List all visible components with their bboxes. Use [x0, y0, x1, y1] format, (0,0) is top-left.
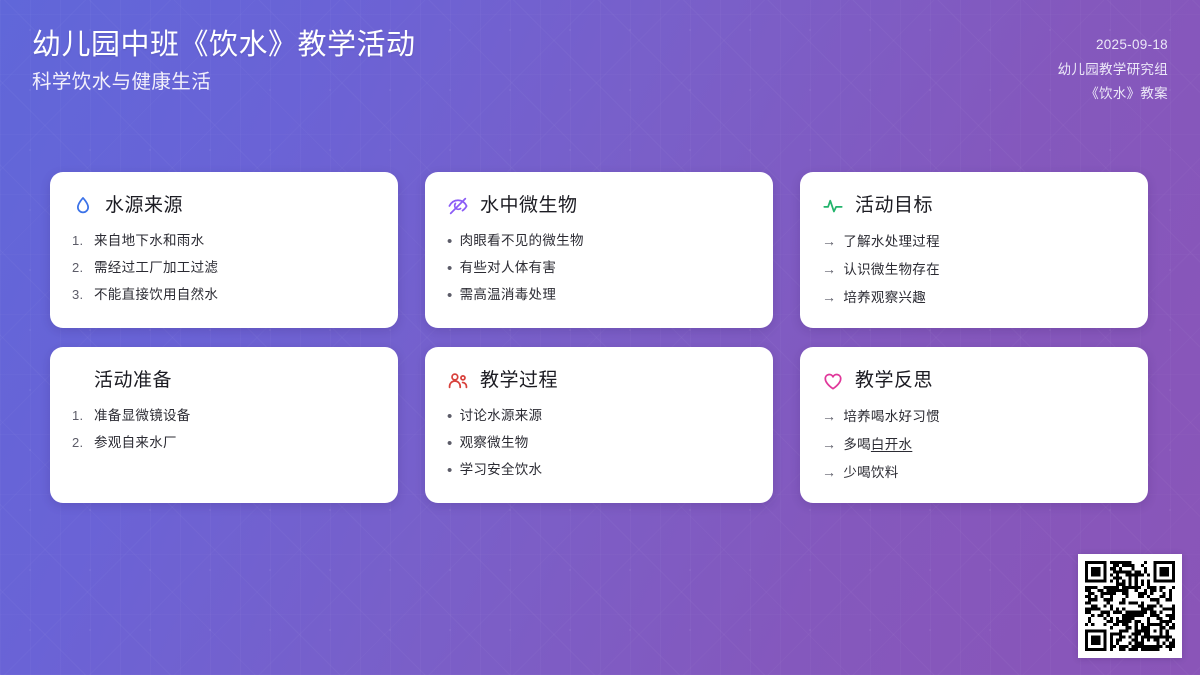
list-item: →了解水处理过程	[822, 232, 1126, 251]
list-item-text: 观察微生物	[460, 434, 529, 452]
list-item: 3.不能直接饮用自然水	[72, 286, 376, 304]
list-marker: →	[822, 407, 836, 426]
card-title: 教学过程	[480, 371, 558, 390]
list-item: →少喝饮料	[822, 463, 1126, 482]
list-marker: →	[822, 435, 836, 454]
header-document-name: 《饮水》教案	[1085, 84, 1168, 104]
card-activity-goals[interactable]: 活动目标→了解水处理过程→认识微生物存在→培养观察兴趣	[800, 172, 1148, 328]
list-item-text: 不能直接饮用自然水	[94, 286, 218, 304]
list-item: •学习安全饮水	[447, 461, 751, 479]
card-list: •肉眼看不见的微生物•有些对人体有害•需高温消毒处理	[447, 232, 751, 305]
list-marker: 1.	[72, 407, 87, 425]
header-left: 幼儿园中班《饮水》教学活动 科学饮水与健康生活	[32, 30, 416, 94]
card-header: 教学反思	[822, 367, 1126, 394]
list-marker: →	[822, 463, 836, 482]
list-marker: 2.	[72, 259, 87, 277]
card-microorganisms[interactable]: 水中微生物•肉眼看不见的微生物•有些对人体有害•需高温消毒处理	[425, 172, 773, 328]
list-marker: •	[447, 261, 453, 276]
heart-icon	[822, 370, 844, 392]
list-item: 1.准备显微镜设备	[72, 407, 376, 425]
card-title: 教学反思	[855, 371, 933, 390]
list-item: 2.需经过工厂加工过滤	[72, 259, 376, 277]
list-marker: •	[447, 409, 453, 424]
card-water-source[interactable]: 水源来源1.来自地下水和雨水2.需经过工厂加工过滤3.不能直接饮用自然水	[50, 172, 398, 328]
list-item: →培养观察兴趣	[822, 288, 1126, 307]
list-item-text: 学习安全饮水	[460, 461, 543, 479]
list-item: 2.参观自来水厂	[72, 434, 376, 452]
list-item-text: 有些对人体有害	[460, 259, 557, 277]
card-list: →了解水处理过程→认识微生物存在→培养观察兴趣	[822, 232, 1126, 308]
list-marker: →	[822, 232, 836, 251]
list-marker: •	[447, 288, 453, 303]
list-item: •有些对人体有害	[447, 259, 751, 277]
card-title: 水中微生物	[480, 196, 578, 215]
card-list: →培养喝水好习惯→多喝白开水→少喝饮料	[822, 407, 1126, 483]
activity-pulse-icon	[822, 195, 844, 217]
card-header: 教学过程	[447, 367, 751, 394]
card-title: 活动目标	[855, 196, 933, 215]
card-header: 水中微生物	[447, 192, 751, 219]
list-item: →多喝白开水	[822, 435, 1126, 454]
card-grid: 水源来源1.来自地下水和雨水2.需经过工厂加工过滤3.不能直接饮用自然水水中微生…	[50, 172, 1150, 503]
list-item: •观察微生物	[447, 434, 751, 452]
card-teaching-process[interactable]: 教学过程•讨论水源来源•观察微生物•学习安全饮水	[425, 347, 773, 503]
list-item-text: 需高温消毒处理	[460, 286, 557, 304]
list-marker: 1.	[72, 232, 87, 250]
header-organization: 幼儿园教学研究组	[1058, 60, 1168, 80]
list-item-text: 准备显微镜设备	[94, 407, 191, 425]
qr-code-container[interactable]	[1078, 554, 1182, 658]
list-item: →认识微生物存在	[822, 260, 1126, 279]
emphasis-underline: 白开水	[871, 437, 912, 452]
list-item-text: 参观自来水厂	[94, 434, 177, 452]
list-marker: 3.	[72, 286, 87, 304]
header-right: 2025-09-18 幼儿园教学研究组 《饮水》教案	[1058, 30, 1168, 104]
card-title: 活动准备	[94, 371, 172, 390]
list-marker: →	[822, 260, 836, 279]
card-title: 水源来源	[105, 196, 183, 215]
card-header: 活动目标	[822, 192, 1126, 219]
users-icon	[447, 370, 469, 392]
list-marker: •	[447, 436, 453, 451]
list-item-text: 需经过工厂加工过滤	[94, 259, 218, 277]
card-header: 水源来源	[72, 192, 376, 219]
list-item-text: 多喝白开水	[843, 436, 912, 454]
card-activity-prep[interactable]: 活动准备1.准备显微镜设备2.参观自来水厂	[50, 347, 398, 503]
list-item-text: 培养喝水好习惯	[843, 408, 940, 426]
list-item-text: 少喝饮料	[843, 464, 898, 482]
list-item-text: 认识微生物存在	[843, 261, 940, 279]
list-item-text: 讨论水源来源	[460, 407, 543, 425]
card-list: •讨论水源来源•观察微生物•学习安全饮水	[447, 407, 751, 480]
card-list: 1.来自地下水和雨水2.需经过工厂加工过滤3.不能直接饮用自然水	[72, 232, 376, 305]
list-item-text: 肉眼看不见的微生物	[460, 232, 584, 250]
list-item-text: 培养观察兴趣	[843, 289, 926, 307]
list-item: →培养喝水好习惯	[822, 407, 1126, 426]
list-item: •肉眼看不见的微生物	[447, 232, 751, 250]
list-item-text: 来自地下水和雨水	[94, 232, 204, 250]
header-date: 2025-09-18	[1096, 35, 1168, 55]
slide-canvas: 幼儿园中班《饮水》教学活动 科学饮水与健康生活 2025-09-18 幼儿园教学…	[0, 0, 1200, 675]
card-list: 1.准备显微镜设备2.参观自来水厂	[72, 407, 376, 452]
qr-code[interactable]	[1085, 561, 1175, 651]
slide-header: 幼儿园中班《饮水》教学活动 科学饮水与健康生活 2025-09-18 幼儿园教学…	[0, 0, 1200, 140]
page-title: 幼儿园中班《饮水》教学活动	[32, 30, 416, 62]
list-marker: →	[822, 288, 836, 307]
list-item: 1.来自地下水和雨水	[72, 232, 376, 250]
list-item: •讨论水源来源	[447, 407, 751, 425]
list-marker: •	[447, 234, 453, 249]
list-item-text: 了解水处理过程	[843, 233, 940, 251]
page-subtitle: 科学饮水与健康生活	[32, 71, 416, 94]
list-marker: 2.	[72, 434, 87, 452]
eye-off-icon	[447, 195, 469, 217]
list-item: •需高温消毒处理	[447, 286, 751, 304]
card-teaching-reflection[interactable]: 教学反思→培养喝水好习惯→多喝白开水→少喝饮料	[800, 347, 1148, 503]
card-header: 活动准备	[72, 367, 376, 394]
list-marker: •	[447, 463, 453, 478]
water-drop-icon	[72, 195, 94, 217]
